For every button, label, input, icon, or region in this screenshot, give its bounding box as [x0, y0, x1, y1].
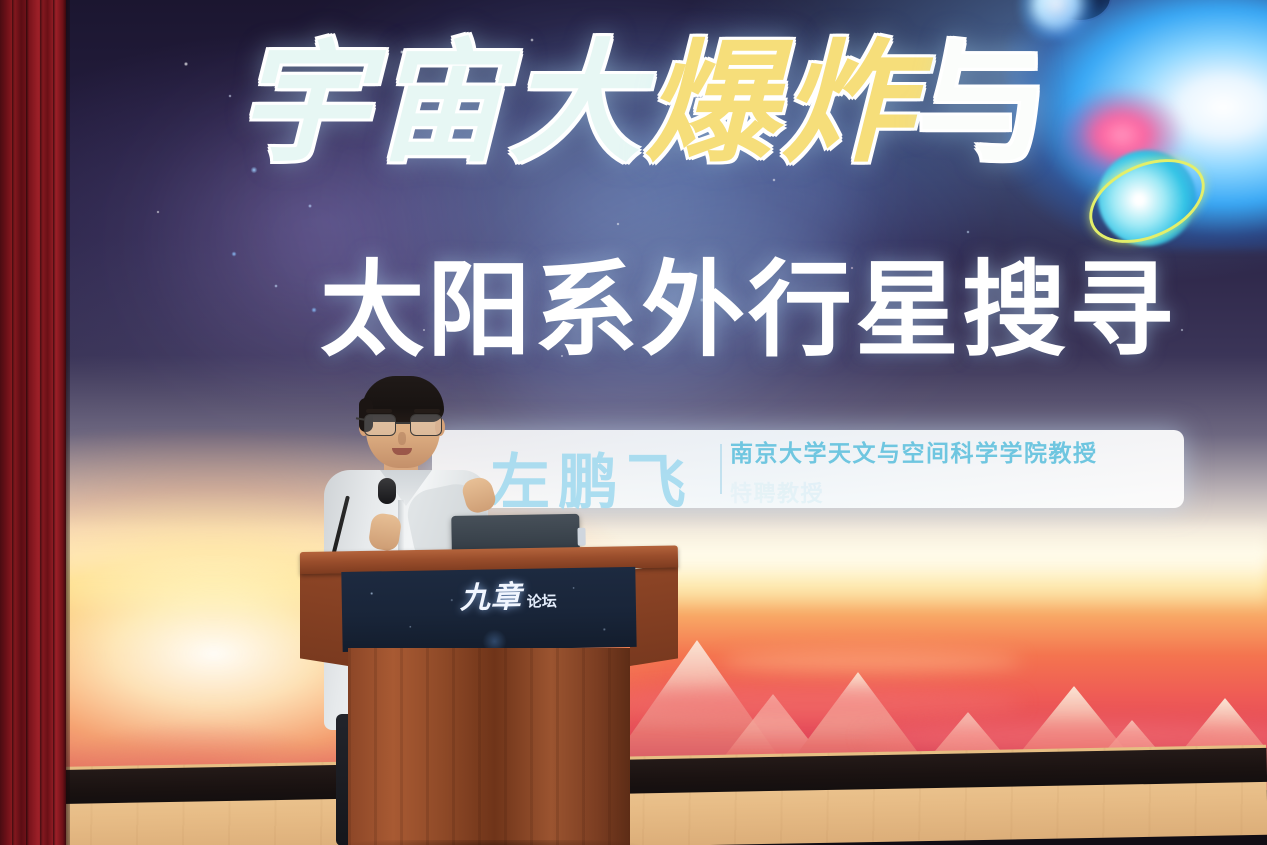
lectern-podium: 九章 论坛: [300, 552, 678, 845]
microphone-icon: [378, 478, 396, 504]
panel-divider: [720, 444, 722, 494]
forum-logo-sub-text: 论坛: [527, 594, 557, 610]
podium-front-panel: 九章 论坛: [341, 567, 636, 652]
title-part-3: 与: [917, 27, 1053, 181]
podium-body: [348, 648, 630, 845]
ringed-planet-icon: [1084, 134, 1212, 262]
stage-curtain: [0, 0, 66, 845]
speaker-name: 左鹏飞: [490, 434, 694, 521]
title-part-1: 宇宙大: [237, 27, 645, 181]
speaker-affiliation-line-1: 南京大学天文与空间科学学院教授: [730, 434, 1170, 468]
slide-title-line-2: 太阳系外行星搜寻: [320, 258, 1176, 362]
lecture-stage-scene: 宇宙大爆炸与 太阳系外行星搜寻 左鹏飞 南京大学天文与空间科学学院教授 特聘教授: [0, 0, 1267, 845]
speaker-affiliation-line-2: 特聘教授: [730, 476, 1170, 508]
speaker-affiliation-group: 南京大学天文与空间科学学院教授 特聘教授: [730, 434, 1170, 508]
forum-logo: 九章 论坛: [460, 582, 558, 614]
slide-title-line-1: 宇宙大爆炸与: [237, 38, 1157, 170]
speaker-info-panel: 左鹏飞 南京大学天文与空间科学学院教授 特聘教授: [432, 430, 1184, 508]
title-highlight: 爆炸: [645, 27, 917, 181]
forum-logo-main-text: 九章: [460, 583, 523, 614]
